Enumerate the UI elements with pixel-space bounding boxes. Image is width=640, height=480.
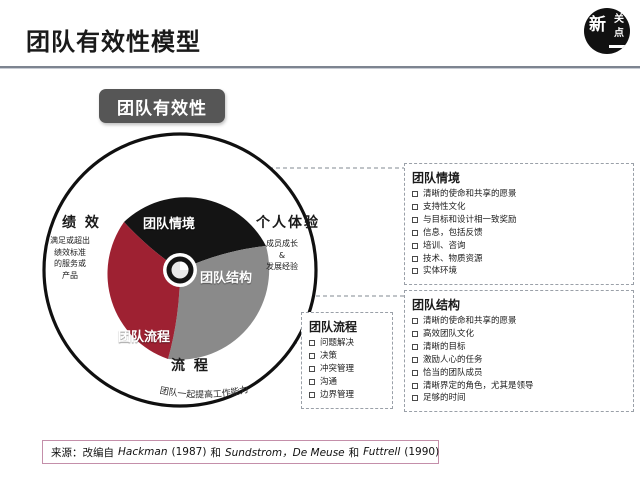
list-item: 清晰的使命和共享的愿景 xyxy=(412,188,626,201)
list-item: 培训、咨询 xyxy=(412,240,626,253)
source-year1: (1987) xyxy=(172,446,207,458)
page-title: 团队有效性模型 xyxy=(26,22,201,57)
callout-process-title: 团队流程 xyxy=(309,318,385,335)
callout-structure: 团队结构 清晰的使命和共享的愿景高效团队文化清晰的目标激励人心的任务恰当的团队成… xyxy=(404,290,634,412)
callout-process: 团队流程 问题解决决策冲突管理沟通边界管理 xyxy=(301,312,393,409)
list-item: 边界管理 xyxy=(309,389,385,402)
callout-structure-title: 团队结构 xyxy=(412,296,626,313)
outer-label-experience-sub: 成员成长&发展经验 xyxy=(266,238,298,273)
list-item: 决策 xyxy=(309,350,385,363)
list-item: 恰当的团队成员 xyxy=(412,367,626,380)
list-item: 沟通 xyxy=(309,376,385,389)
list-item: 清晰界定的角色，尤其是领导 xyxy=(412,380,626,393)
logo-char-main: 新 xyxy=(589,17,606,34)
effectiveness-badge: 团队有效性 xyxy=(99,89,225,123)
segment-label-structure: 团队结构 xyxy=(200,267,252,286)
callout-context-title: 团队情境 xyxy=(412,169,626,186)
logo-underline xyxy=(609,45,625,48)
source-conj1: 和 xyxy=(210,445,221,460)
list-item: 清晰的使命和共享的愿景 xyxy=(412,315,626,328)
list-item: 足够的时间 xyxy=(412,392,626,405)
segment-label-process: 团队流程 xyxy=(118,326,170,345)
list-item: 与目标和设计相一致奖励 xyxy=(412,214,626,227)
brand-logo-icon: 新 关 点 xyxy=(584,8,630,54)
callout-structure-list: 清晰的使命和共享的愿景高效团队文化清晰的目标激励人心的任务恰当的团队成员清晰界定… xyxy=(412,315,626,405)
process-curve-text: 团队一起提高工作能力 xyxy=(159,383,250,400)
callout-context: 团队情境 清晰的使命和共享的愿景支持性文化与目标和设计相一致奖励信息，包括反馈培… xyxy=(404,163,634,285)
callout-context-list: 清晰的使命和共享的愿景支持性文化与目标和设计相一致奖励信息，包括反馈培训、咨询技… xyxy=(412,188,626,278)
list-item: 问题解决 xyxy=(309,337,385,350)
header-divider-light xyxy=(0,68,640,69)
source-year2: (1990) xyxy=(404,446,439,458)
list-item: 技术、物质资源 xyxy=(412,253,626,266)
outer-label-process-title: 流 程 xyxy=(171,355,210,375)
logo-char-bottom: 点 xyxy=(614,29,624,39)
segment-label-context: 团队情境 xyxy=(143,213,195,232)
outer-label-experience-title: 个人体验 xyxy=(256,212,320,232)
source-note: 来源：改编自 Hackman (1987) 和 Sundstrom，De Meu… xyxy=(42,440,439,464)
outer-label-process-curve: 团队一起提高工作能力 xyxy=(124,378,284,404)
list-item: 信息，包括反馈 xyxy=(412,227,626,240)
source-ref1: Hackman xyxy=(118,446,168,458)
list-item: 激励人心的任务 xyxy=(412,354,626,367)
source-conj2: 和 xyxy=(349,445,360,460)
callout-process-list: 问题解决决策冲突管理沟通边界管理 xyxy=(309,337,385,402)
outer-label-performance-sub: 满足或超出绩效标准的服务或产品 xyxy=(50,235,90,281)
list-item: 冲突管理 xyxy=(309,363,385,376)
source-ref2: Sundstrom，De Meuse xyxy=(225,445,345,460)
list-item: 高效团队文化 xyxy=(412,328,626,341)
source-ref3: Futtrell xyxy=(363,446,400,458)
list-item: 实体环境 xyxy=(412,265,626,278)
list-item: 支持性文化 xyxy=(412,201,626,214)
svg-text:团队一起提高工作能力: 团队一起提高工作能力 xyxy=(159,383,250,400)
page-header: 团队有效性模型 新 关 点 xyxy=(0,0,640,66)
source-prefix: 来源：改编自 xyxy=(51,445,114,460)
logo-char-top: 关 xyxy=(614,15,624,25)
list-item: 清晰的目标 xyxy=(412,341,626,354)
outer-label-performance-title: 绩 效 xyxy=(62,212,101,232)
